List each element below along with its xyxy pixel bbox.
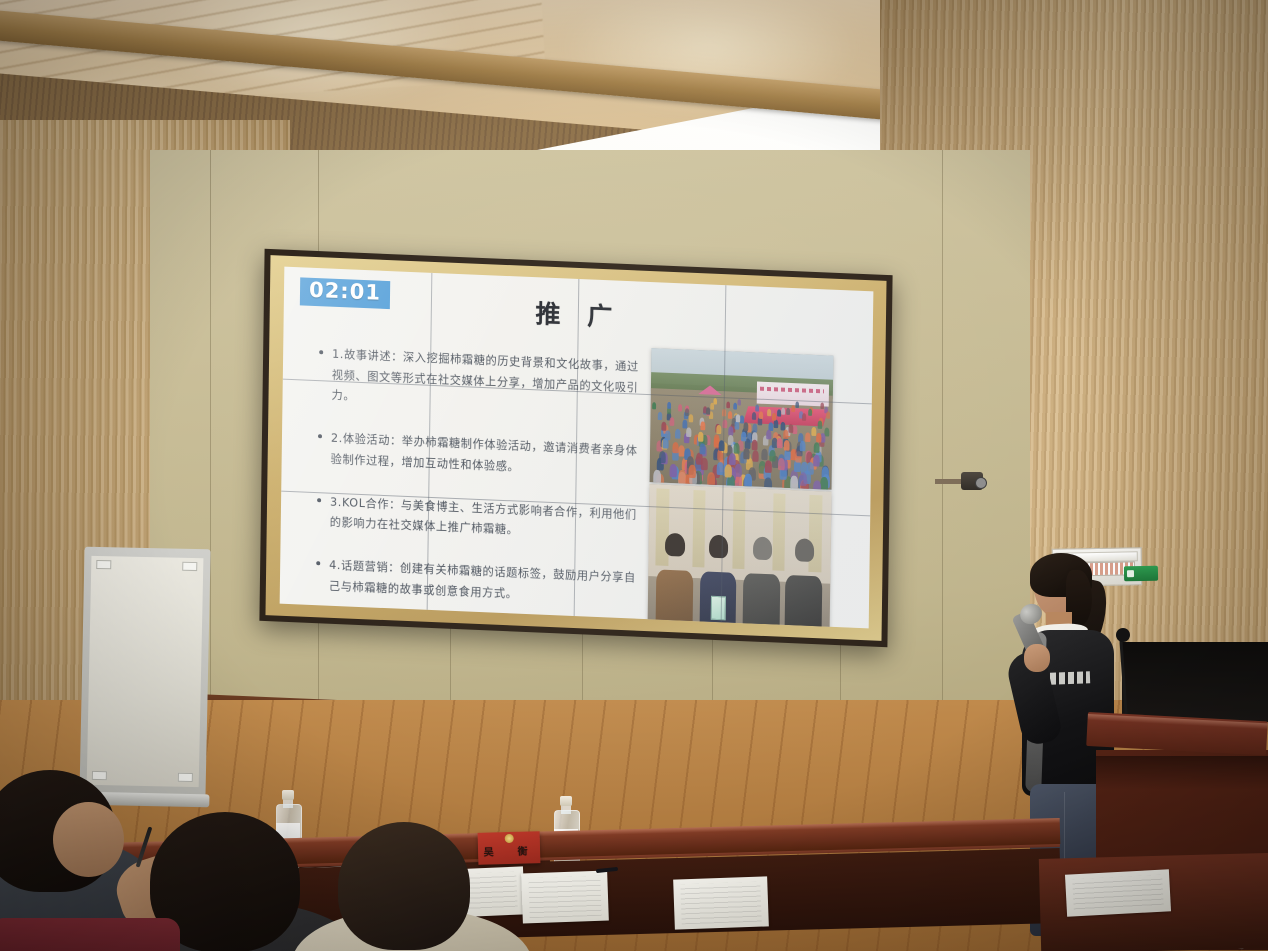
photo-crowd-person [675, 429, 681, 439]
presentation-hall-photo: 02:01 推 广 1.故事讲述：深入挖掘柿霜糖的历史背景和文化故事，通过视频、… [0, 0, 1268, 951]
judge-papers[interactable] [673, 876, 769, 929]
list-item: 2.体验活动：举办柿霜糖制作体验活动，邀请消费者亲身体验制作过程，增加互动性和体… [318, 428, 649, 483]
photo-crowd-person [752, 450, 759, 462]
photo-crowd-person [752, 412, 756, 420]
presenter-hand [1024, 644, 1050, 672]
photo-crowd-person [818, 421, 823, 429]
rollup-banner-stand[interactable] [79, 547, 210, 802]
photo-crowd-person [772, 413, 776, 421]
photo-crowd-person [698, 431, 704, 441]
photo-crowd-person [764, 477, 772, 490]
photo-crowd-person [726, 401, 730, 408]
lectern-shadow [1096, 756, 1268, 790]
judge-nameplate: 吴 衡 [478, 831, 541, 865]
photo-crowd-person [733, 443, 739, 454]
photo-crowd-person [661, 421, 666, 430]
photo-crowd-person [773, 420, 778, 428]
photo-crowd-person [725, 464, 732, 477]
photo-crowd-person [811, 427, 816, 436]
photo-person-hair [709, 534, 729, 559]
photo-crowd-person [790, 475, 798, 489]
photo-crowd-person [700, 421, 705, 430]
photo-crowd-person [670, 418, 675, 427]
photo-crowd-person [696, 453, 703, 465]
nameplate-emblem-icon [505, 834, 514, 843]
photo-crowd-person [825, 427, 830, 436]
photo-person-jacket [785, 575, 823, 628]
photo-crowd-person [784, 429, 789, 438]
photo-crowd-person [766, 430, 771, 440]
photo-crowd-person [685, 409, 689, 417]
judge-papers[interactable] [521, 871, 609, 924]
banner-face [87, 556, 204, 787]
photo-crowd-person [788, 424, 793, 433]
photo-person-hair [795, 538, 815, 563]
photo-crowd-person [777, 438, 783, 448]
photo-person [697, 537, 740, 629]
photo-crowd-person [765, 460, 772, 473]
photo-person [740, 538, 783, 628]
audience-chair [0, 918, 180, 951]
audience-face [53, 802, 124, 878]
paper-lines [680, 882, 761, 925]
bullet-text: 2.体验活动：举办柿霜糖制作体验活动，邀请消费者亲身体验制作过程，增加互动性和体… [331, 429, 649, 484]
banner-clip [182, 562, 197, 571]
photo-crowd-person [727, 435, 733, 445]
audience-head [338, 822, 470, 950]
photo-person-coat [656, 570, 694, 628]
photo-crowd-person [753, 423, 758, 432]
photo-crowd-person [688, 465, 696, 479]
photo-crowd-person [783, 440, 789, 451]
list-item: 4.话题营销：创建有关柿霜糖的话题标签，鼓励用户分享自己与柿霜糖的故事或创意食用… [316, 555, 647, 610]
photo-crowd-person [708, 472, 716, 486]
photo-crowd-person [658, 412, 663, 420]
photo-crowd-person [672, 442, 678, 453]
photo-crowd-person [729, 453, 736, 465]
photo-crowd-person [759, 411, 763, 419]
group-portrait-photo [647, 484, 831, 628]
judge-papers[interactable] [1065, 869, 1171, 916]
bottle-cap [560, 796, 572, 806]
photo-person [653, 535, 696, 629]
photo-crowd-person [667, 401, 671, 408]
nameplate-text: 吴 衡 [478, 842, 540, 859]
photo-crowd-person [826, 412, 830, 419]
photo-crowd-person [816, 433, 821, 443]
photo-crowd-person [805, 433, 810, 443]
photo-crowd-person [659, 451, 666, 463]
photo-crowd-person [669, 464, 677, 478]
photo-person-jacket [743, 573, 781, 628]
photo-crowd-person [743, 448, 749, 460]
photo-crowd-person [791, 405, 795, 412]
photo-crowd-person [689, 414, 694, 422]
paper-lines [1072, 875, 1164, 912]
photo-crowd-person [769, 450, 776, 462]
photo-crowd-person [678, 470, 686, 484]
photo-crowd-person [802, 413, 806, 421]
video-wall[interactable]: 02:01 推 广 1.故事讲述：深入挖掘柿霜糖的历史背景和文化故事，通过视频、… [259, 249, 892, 647]
photo-crowd-person [744, 474, 752, 488]
photo-crowd-person [786, 408, 790, 415]
camera-lens [975, 477, 987, 489]
photo-crowd-person [653, 470, 661, 484]
photo-person [782, 540, 825, 628]
photo-crowd-person [778, 458, 785, 470]
photo-crowd-person [800, 440, 806, 450]
audience-hair [338, 822, 470, 950]
wall-camera-icon [935, 470, 987, 496]
photo-crowd-person [662, 437, 668, 448]
photo-crowd-person [767, 409, 771, 416]
event-crowd-photo [650, 348, 834, 490]
photo-crowd-person [752, 440, 758, 451]
banner-clip [178, 773, 193, 782]
photo-crowd-person [716, 424, 721, 433]
photo-held-book [711, 596, 726, 621]
photo-crowd-person [755, 405, 759, 412]
slide-screen[interactable]: 02:01 推 广 1.故事讲述：深入挖掘柿霜糖的历史背景和文化故事，通过视频、… [280, 267, 874, 629]
photo-crowd-person [706, 408, 710, 416]
wall-seam [942, 150, 943, 750]
audience-head [0, 770, 116, 892]
photo-crowd-person [781, 408, 785, 415]
photo-crowd-person [737, 399, 741, 405]
paper-lines [528, 876, 601, 918]
photo-crowd-person [814, 442, 820, 453]
photo-crowd-person [813, 480, 821, 489]
bottle-neck [283, 799, 293, 808]
bullet-text: 4.话题营销：创建有关柿霜糖的话题标签，鼓励用户分享自己与柿霜糖的故事或创意食用… [329, 556, 647, 611]
photo-crowd-person [678, 404, 682, 411]
banner-clip [96, 560, 111, 569]
photo-crowd-person [743, 422, 748, 431]
photo-crowd-person [761, 449, 767, 461]
photo-person-hair [753, 536, 773, 561]
photo-crowd-person [813, 455, 820, 467]
bullet-text: 3.KOL合作：与美食博主、生活方式影响者合作，利用他们的影响力在社交媒体上推广… [330, 492, 648, 547]
photo-crowd-person [736, 414, 741, 422]
photo-crowd-person [652, 402, 656, 409]
photo-crowd-person [799, 472, 807, 486]
lectern-backdrop [1122, 642, 1268, 722]
photo-crowd-person [700, 443, 706, 454]
photo-crowd-person [713, 398, 717, 405]
photo-crowd-person [820, 477, 828, 490]
bottle-neck [561, 805, 571, 814]
microphone-icon [1116, 628, 1130, 642]
photo-crowd-person [686, 427, 691, 437]
photo-person-hair [665, 532, 685, 557]
bottle-cap [282, 790, 294, 800]
photo-crowd-person [741, 432, 746, 442]
wall-seam [210, 150, 211, 750]
presenter-jacket-logo [1050, 671, 1090, 684]
